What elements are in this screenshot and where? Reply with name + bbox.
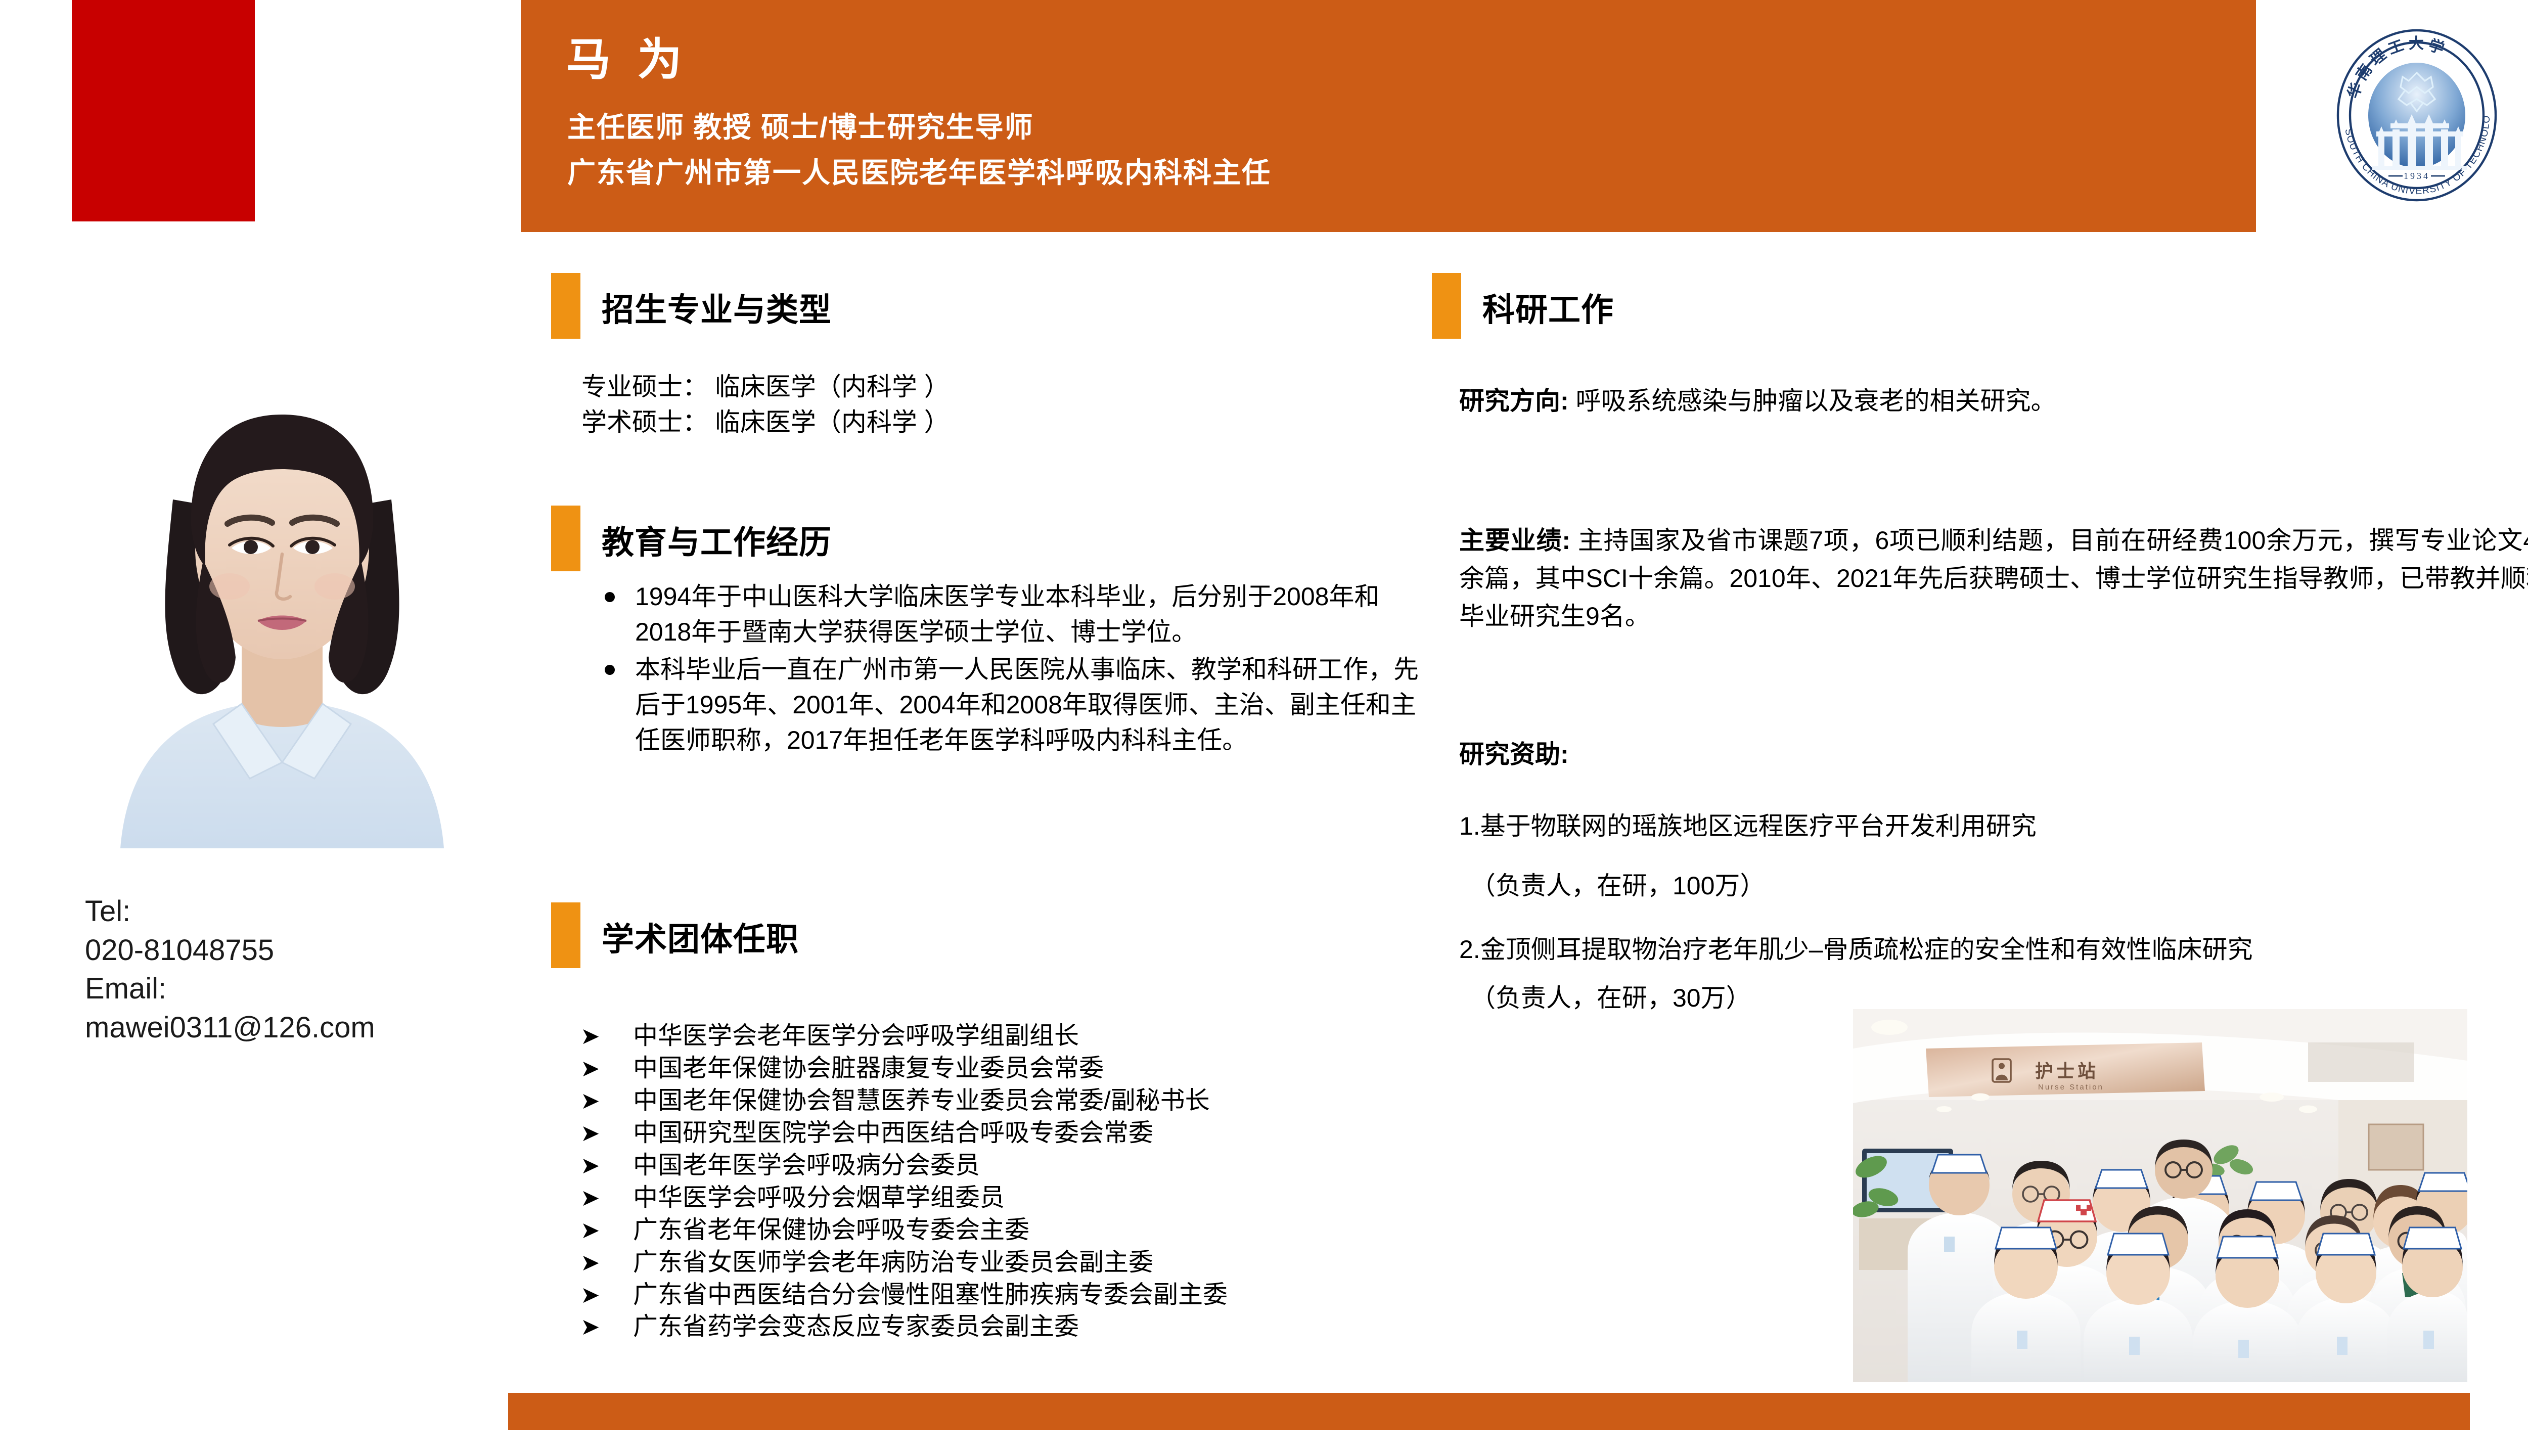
portrait-photo xyxy=(80,287,484,848)
funding-item-1-detail: （负责人，在研，100万） xyxy=(1470,866,1765,902)
funding-item-2-detail: （负责人，在研，30万） xyxy=(1470,978,1751,1014)
contact-block: Tel: 020-81048755 Email: mawei0311@126.c… xyxy=(85,892,500,1047)
list-item: ➤中国老年保健协会智慧医养专业委员会常委/副秘书长 xyxy=(576,1085,1486,1117)
chevron-right-icon: ➤ xyxy=(580,1215,600,1246)
funding-heading: 研究资助: xyxy=(1459,734,1569,770)
red-decor-block xyxy=(72,0,255,221)
university-logo-icon: 华 南 理 工 大 学 SOUTH CHINA UNIVERSITY OF TE… xyxy=(2316,14,2518,216)
chevron-right-icon: ➤ xyxy=(580,1312,600,1342)
section-title-associations: 学术团体任职 xyxy=(602,914,799,960)
research-direction-value: 呼吸系统感染与肿瘤以及衰老的相关研究。 xyxy=(1569,387,2056,415)
chevron-right-icon: ➤ xyxy=(580,1280,600,1310)
admission-lines: 专业硕士： 临床医学（内科学 ） 学术硕士： 临床医学（内科学 ） xyxy=(581,369,950,440)
list-item-label: 广东省中西医结合分会慢性阻塞性肺疾病专委会副主委 xyxy=(633,1281,1228,1308)
list-item-label: 中华医学会呼吸分会烟草学组委员 xyxy=(633,1184,1005,1211)
accent-tab-icon xyxy=(551,273,580,339)
section-title-education: 教育与工作经历 xyxy=(602,517,832,563)
list-item-label: 广东省药学会变态反应专家委员会副主委 xyxy=(633,1313,1079,1340)
research-achievements: 主要业绩: 主持国家及省市课题7项，6项已顺利结题，目前在研经费100余万元，撰… xyxy=(1459,522,2528,635)
person-titles: 主任医师 教授 硕士/博士研究生导师 xyxy=(567,111,1034,144)
research-achievements-label: 主要业绩: xyxy=(1459,526,1570,555)
admission-line-professional: 专业硕士： 临床医学（内科学 ） xyxy=(581,369,950,404)
education-list: 1994年于中山医科大学临床医学专业本科毕业，后分别于2008年和2018年于暨… xyxy=(602,579,1431,760)
chevron-right-icon: ➤ xyxy=(580,1151,600,1181)
accent-tab-icon xyxy=(551,506,580,571)
chevron-right-icon: ➤ xyxy=(580,1086,600,1116)
list-item-label: 中国老年保健协会智慧医养专业委员会常委/副秘书长 xyxy=(633,1087,1210,1114)
list-item-label: 广东省老年保健协会呼吸专委会主委 xyxy=(633,1216,1029,1244)
email-label: Email: xyxy=(85,970,500,1009)
chevron-right-icon: ➤ xyxy=(580,1021,600,1052)
list-item: ➤广东省药学会变态反应专家委员会副主委 xyxy=(576,1311,1486,1343)
accent-tab-icon xyxy=(1432,273,1461,339)
list-item-label: 中国研究型医院学会中西医结合呼吸专委会常委 xyxy=(633,1119,1153,1147)
section-title-admission: 招生专业与类型 xyxy=(602,284,832,331)
list-item: ➤中华医学会老年医学分会呼吸学组副组长 xyxy=(576,1020,1486,1053)
list-item: ➤中国老年医学会呼吸病分会委员 xyxy=(576,1150,1486,1182)
list-item: ➤广东省老年保健协会呼吸专委会主委 xyxy=(576,1214,1486,1247)
section-title-research: 科研工作 xyxy=(1482,284,1614,331)
svg-text:1934: 1934 xyxy=(2404,171,2430,181)
list-item: 1994年于中山医科大学临床医学专业本科毕业，后分别于2008年和2018年于暨… xyxy=(602,579,1431,650)
email-value: mawei0311@126.com xyxy=(85,1009,500,1048)
list-item-label: 广东省女医师学会老年病防治专业委员会副主委 xyxy=(633,1249,1153,1276)
svg-text:护士站: 护士站 xyxy=(2035,1061,2099,1081)
chevron-right-icon: ➤ xyxy=(580,1118,600,1149)
list-item-label: 中华医学会老年医学分会呼吸学组副组长 xyxy=(633,1022,1079,1050)
chevron-right-icon: ➤ xyxy=(580,1248,600,1278)
accent-tab-icon xyxy=(551,902,580,968)
associations-list: ➤中华医学会老年医学分会呼吸学组副组长 ➤中国老年保健协会脏器康复专业委员会常委… xyxy=(576,1020,1486,1343)
list-item-label: 中国老年保健协会脏器康复专业委员会常委 xyxy=(633,1055,1104,1082)
list-item-label: 中国老年医学会呼吸病分会委员 xyxy=(633,1152,980,1179)
funding-item-1-title: 1.基于物联网的瑶族地区远程医疗平台开发利用研究 xyxy=(1459,806,2037,842)
tel-value: 020-81048755 xyxy=(85,931,500,970)
list-item: ➤广东省中西医结合分会慢性阻塞性肺疾病专委会副主委 xyxy=(576,1279,1486,1311)
list-item: ➤广东省女医师学会老年病防治专业委员会副主委 xyxy=(576,1247,1486,1279)
list-item: ➤中国研究型医院学会中西医结合呼吸专委会常委 xyxy=(576,1117,1486,1150)
team-group-photo: 护士站 Nurse Station xyxy=(1853,1009,2467,1382)
research-direction: 研究方向: 呼吸系统感染与肿瘤以及衰老的相关研究。 xyxy=(1459,383,2528,419)
person-affiliation: 广东省广州市第一人民医院老年医学科呼吸内科科主任 xyxy=(567,157,1271,189)
chevron-right-icon: ➤ xyxy=(580,1054,600,1084)
list-item: ➤中华医学会呼吸分会烟草学组委员 xyxy=(576,1182,1486,1214)
chevron-right-icon: ➤ xyxy=(580,1183,600,1213)
list-item: ➤中国老年保健协会脏器康复专业委员会常委 xyxy=(576,1053,1486,1085)
svg-text:Nurse Station: Nurse Station xyxy=(2038,1083,2104,1091)
person-name: 马 为 xyxy=(566,35,689,84)
admission-line-academic: 学术硕士： 临床医学（内科学 ） xyxy=(581,404,950,440)
research-direction-label: 研究方向: xyxy=(1459,387,1569,415)
poster-page: 马 为 主任医师 教授 硕士/博士研究生导师 广东省广州市第一人民医院老年医学科… xyxy=(0,0,2528,1456)
footer-bar xyxy=(508,1393,2470,1430)
research-achievements-value: 主持国家及省市课题7项，6项已顺利结题，目前在研经费100余万元，撰写专业论文4… xyxy=(1459,526,2528,630)
list-item: 本科毕业后一直在广州市第一人民医院从事临床、教学和科研工作，先后于1995年、2… xyxy=(602,652,1431,758)
funding-item-2-title: 2.金顶侧耳提取物治疗老年肌少–骨质疏松症的安全性和有效性临床研究 xyxy=(1459,929,2253,966)
tel-label: Tel: xyxy=(85,892,500,931)
